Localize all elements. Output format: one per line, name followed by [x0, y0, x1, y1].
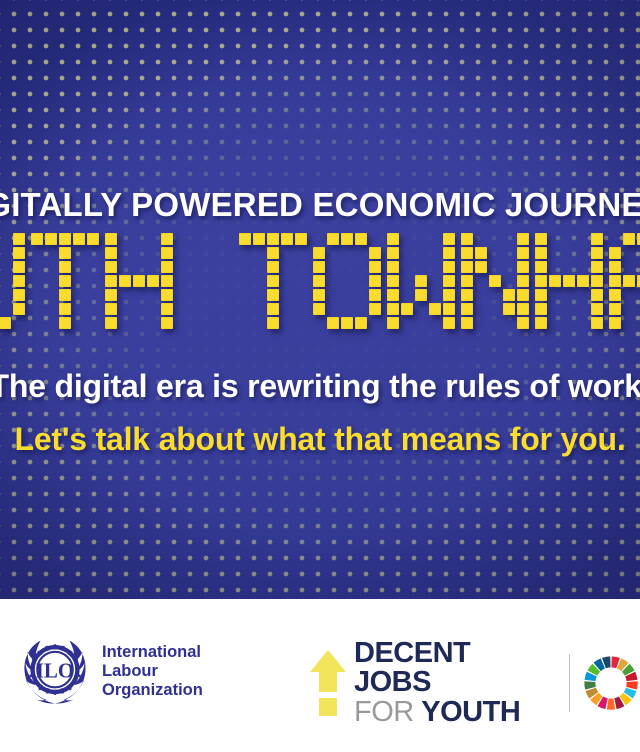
decent-jobs-line-1: DECENT JOBS	[354, 639, 555, 697]
dotmatrix-char	[239, 233, 309, 331]
dotmatrix-char	[609, 233, 640, 331]
hero-banner: DIGITALLY POWERED ECONOMIC JOURNEYS The …	[0, 0, 640, 599]
eyebrow-text: DIGITALLY POWERED ECONOMIC JOURNEYS	[0, 186, 640, 224]
svg-text:ILO: ILO	[36, 659, 74, 683]
dotmatrix-char	[0, 233, 27, 331]
ilo-word-line-2: Labour	[102, 662, 203, 681]
dotmatrix-char	[105, 233, 175, 331]
sdg-color-wheel-icon	[582, 654, 640, 712]
dotmatrix-char	[313, 233, 383, 331]
ilo-word-line-3: Organization	[102, 681, 203, 700]
dotmatrix-headline	[0, 233, 640, 331]
logo-divider	[569, 654, 571, 712]
tagline-line-1: The digital era is rewriting the rules o…	[0, 368, 640, 405]
decent-jobs-wordmark: DECENT JOBS FOR YOUTH	[354, 639, 555, 727]
sdg-wheel-segment	[607, 698, 615, 709]
footer-logo-bar: ILO International Labour Organization DE…	[0, 599, 640, 752]
dotmatrix-char	[31, 233, 101, 331]
tagline-line-2: Let's talk about what that means for you…	[14, 421, 625, 458]
decent-jobs-for-youth-logo: DECENT JOBS FOR YOUTH	[308, 639, 640, 727]
decent-jobs-for-word: FOR	[354, 696, 421, 728]
up-arrow-icon	[308, 648, 348, 718]
poster-root: DIGITALLY POWERED ECONOMIC JOURNEYS The …	[0, 0, 640, 752]
ilo-wordmark: International Labour Organization	[102, 643, 203, 700]
dotmatrix-char	[535, 233, 605, 331]
hero-text-block: DIGITALLY POWERED ECONOMIC JOURNEYS The …	[0, 0, 640, 599]
decent-jobs-line-2: FOR YOUTH	[354, 698, 555, 727]
decent-jobs-youth-word: YOUTH	[421, 696, 520, 728]
ilo-word-line-1: International	[102, 643, 203, 662]
dotmatrix-char	[387, 233, 457, 331]
dotmatrix-char	[461, 233, 531, 331]
ilo-logo: ILO International Labour Organization	[18, 637, 203, 705]
ilo-emblem-icon: ILO	[18, 637, 92, 705]
